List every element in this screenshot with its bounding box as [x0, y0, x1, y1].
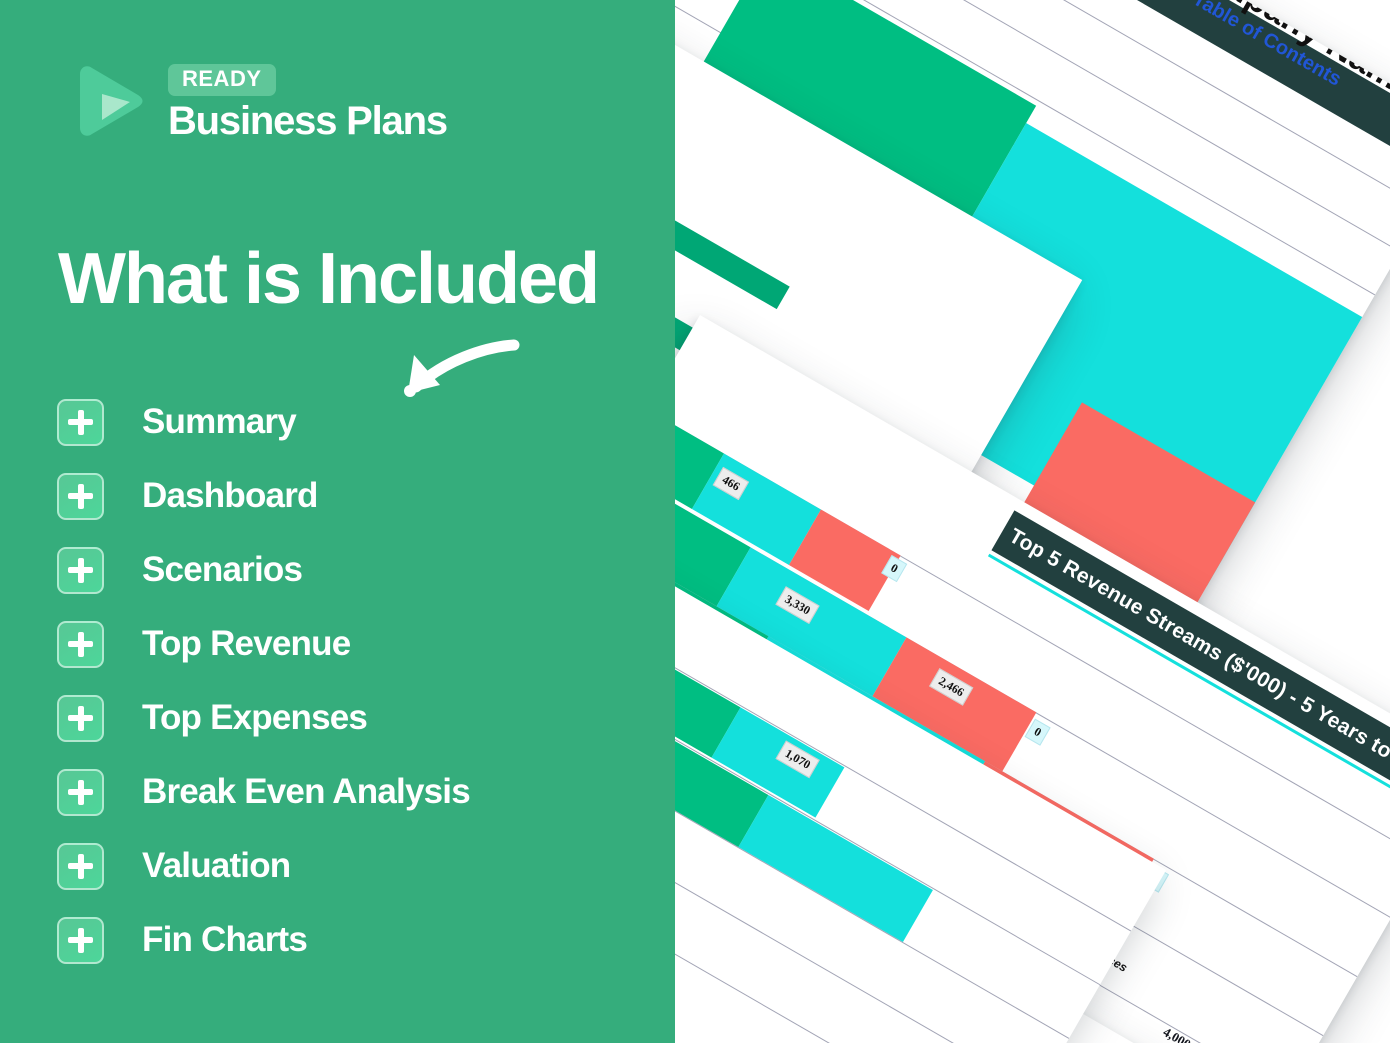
play-triangle-icon: [72, 64, 146, 138]
left-green-panel: READY Business Plans What is Included Su…: [0, 0, 675, 1043]
plus-icon: [57, 695, 104, 742]
list-item[interactable]: Fin Charts: [57, 903, 657, 977]
list-item-label: Fin Charts: [142, 920, 307, 960]
list-item[interactable]: Scenarios: [57, 533, 657, 607]
poster-root: Company Name Table of Contents 128.9 202…: [0, 0, 1390, 1043]
plus-icon: [57, 769, 104, 816]
list-item-label: Top Expenses: [142, 698, 367, 738]
ready-badge: READY: [168, 64, 276, 96]
list-item-label: Scenarios: [142, 550, 302, 590]
brand-logo-row[interactable]: READY Business Plans: [72, 58, 447, 141]
list-item[interactable]: Summary: [57, 385, 657, 459]
list-item-label: Summary: [142, 402, 296, 442]
plus-icon: [57, 621, 104, 668]
list-item-label: Dashboard: [142, 476, 318, 516]
list-item[interactable]: Valuation: [57, 829, 657, 903]
list-item[interactable]: Top Revenue: [57, 607, 657, 681]
list-item[interactable]: Break Even Analysis: [57, 755, 657, 829]
plus-icon: [57, 917, 104, 964]
included-list: Summary Dashboard Scenarios Top Revenue …: [57, 385, 657, 977]
plus-icon: [57, 547, 104, 594]
page-title: What is Included: [58, 243, 598, 315]
list-item[interactable]: Top Expenses: [57, 681, 657, 755]
list-item-label: Top Revenue: [142, 624, 350, 664]
brand-text: READY Business Plans: [168, 58, 447, 141]
list-item[interactable]: Dashboard: [57, 459, 657, 533]
plus-icon: [57, 843, 104, 890]
plus-icon: [57, 473, 104, 520]
list-item-label: Break Even Analysis: [142, 772, 470, 812]
plus-icon: [57, 399, 104, 446]
brand-name: Business Plans: [168, 101, 447, 141]
list-item-label: Valuation: [142, 846, 290, 886]
